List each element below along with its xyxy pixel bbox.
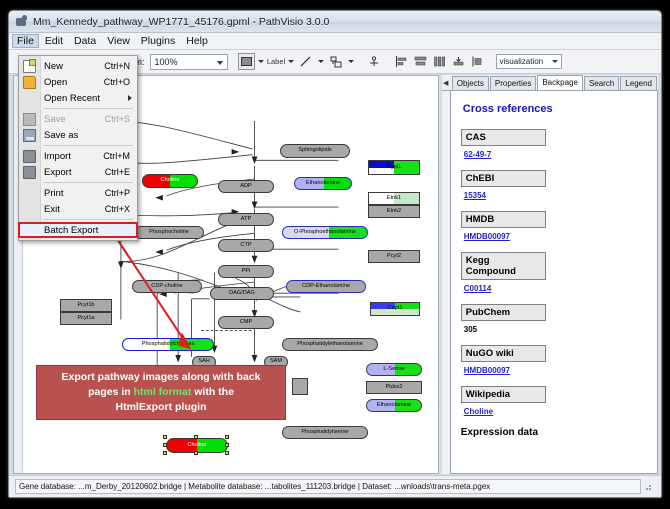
file-menu-separator-3 xyxy=(43,182,133,183)
stack-button[interactable] xyxy=(450,53,467,70)
node-label: CMP xyxy=(240,320,252,326)
annotation-line3: HtmlExport plugin xyxy=(116,401,207,413)
file-menu-import-label: Import xyxy=(44,151,71,162)
export-icon xyxy=(23,166,36,179)
node-label: L-Serine xyxy=(383,367,404,373)
wikipedia-link[interactable]: Choline xyxy=(464,407,493,416)
resize-handle-n[interactable] xyxy=(194,435,198,439)
cas-link[interactable]: 62-49-7 xyxy=(464,150,492,159)
backpage-value-chebi[interactable]: 15354 xyxy=(464,191,649,200)
menu-bar: File Edit Data View Plugins Help xyxy=(9,33,661,50)
node-etnk1[interactable]: Etnk1 xyxy=(368,192,420,205)
menu-edit[interactable]: Edit xyxy=(40,34,68,48)
align-center-icon xyxy=(414,56,427,67)
datanode-dropdown[interactable] xyxy=(257,53,266,70)
submenu-arrow-icon xyxy=(128,95,132,101)
shape-button[interactable] xyxy=(328,53,345,70)
kegg-link[interactable]: C00114 xyxy=(464,284,492,293)
align-left-icon xyxy=(395,56,408,67)
node-label: Phosphocholine xyxy=(149,230,189,236)
node-sgpl1[interactable]: Sgpl1 xyxy=(368,160,420,175)
node-cmp[interactable]: CMP xyxy=(218,316,274,329)
chevron-down-icon-2 xyxy=(552,60,558,63)
node-phosphatidylserine[interactable]: Phosphatidylserine xyxy=(282,426,368,439)
shape-icon xyxy=(330,56,342,68)
file-menu-export-label: Export xyxy=(44,167,71,178)
group-button[interactable] xyxy=(469,53,486,70)
node-pcyt1a[interactable]: Pcyt1a xyxy=(60,312,112,325)
open-folder-icon xyxy=(23,76,36,89)
hmdb-link[interactable]: HMDB00097 xyxy=(464,232,510,241)
menu-view[interactable]: View xyxy=(102,34,135,48)
visualization-value: visualization xyxy=(500,57,544,66)
node-label: Phosphatidylserine xyxy=(301,430,348,436)
file-menu-exit-label: Exit xyxy=(44,204,60,215)
anchor-icon xyxy=(368,56,380,68)
menu-help[interactable]: Help xyxy=(181,34,213,48)
resize-handle-nw[interactable] xyxy=(163,435,167,439)
file-menu-open-recent[interactable]: Open Recent xyxy=(19,90,137,106)
backpage-section-cas: CAS xyxy=(461,129,546,146)
file-menu-exit-shortcut: Ctrl+X xyxy=(105,204,130,214)
file-menu-separator-2 xyxy=(43,145,133,146)
file-menu-new-shortcut: Ctrl+N xyxy=(104,61,130,71)
node-phosphatidylethanolamine[interactable]: Phosphatidylethanolamine xyxy=(282,338,378,351)
tab-search[interactable]: Search xyxy=(584,76,619,90)
tab-legend[interactable]: Legend xyxy=(620,76,657,90)
selected-node-choline[interactable]: Choline xyxy=(166,438,228,453)
nugo-link[interactable]: HMDB00097 xyxy=(464,366,510,375)
label-dropdown[interactable] xyxy=(287,53,296,70)
node-label: Etnk2 xyxy=(387,209,401,215)
file-menu-save-as[interactable]: Save as xyxy=(19,127,137,143)
file-menu-batch-export-label: Batch Export xyxy=(44,225,98,236)
node-label: CTP xyxy=(240,243,251,249)
backpage-section-pubchem: PubChem xyxy=(461,304,546,321)
line-icon xyxy=(300,56,312,68)
group-icon xyxy=(471,56,484,67)
node-l-serine[interactable]: L-Serine xyxy=(366,363,422,376)
node-ethanolamine-bottom[interactable]: Ethanolamine xyxy=(366,399,422,412)
node-label: CDP-choline xyxy=(151,284,182,290)
annotation-callout: Export pathway images along with back pa… xyxy=(36,365,286,420)
node-pcyt1b[interactable]: Pcyt1b xyxy=(60,299,112,312)
node-group-handle[interactable] xyxy=(292,378,308,395)
window-title: Mm_Kennedy_pathway_WP1771_45176.gpml - P… xyxy=(33,16,329,28)
backpage-value-nugo[interactable]: HMDB00097 xyxy=(464,366,649,375)
backpage-heading: Cross references xyxy=(463,103,649,115)
node-label: ADP xyxy=(240,184,252,190)
save-as-icon xyxy=(23,129,36,142)
file-menu-new[interactable]: New Ctrl+N xyxy=(19,58,137,74)
menu-data[interactable]: Data xyxy=(69,34,101,48)
chevron-down-icon xyxy=(217,61,223,65)
node-label: CDP-Ethanolamine xyxy=(302,284,350,290)
anchor-button[interactable] xyxy=(366,53,383,70)
status-text: Gene database: ...m_Derby_20120602.bridg… xyxy=(15,479,641,494)
node-phosphatidylcholines[interactable]: Phosphatidylcholines xyxy=(122,338,214,351)
file-menu-print-label: Print xyxy=(44,188,64,199)
node-label: O-Phosphoethanolamine xyxy=(294,230,356,236)
node-label: Ptdss2 xyxy=(385,385,402,391)
node-etnk2[interactable]: Etnk2 xyxy=(368,205,420,218)
file-menu-separator-1 xyxy=(43,108,133,109)
file-menu-save-as-label: Save as xyxy=(44,130,78,141)
file-menu-open-recent-label: Open Recent xyxy=(44,93,100,104)
node-atp[interactable]: ATP xyxy=(218,213,274,226)
file-menu-dropdown[interactable]: New Ctrl+N Open Ctrl+O Open Recent Save … xyxy=(18,55,138,241)
tab-scroll-left-icon[interactable]: ◀ xyxy=(442,75,450,91)
tab-properties[interactable]: Properties xyxy=(490,76,536,90)
align-center-button[interactable] xyxy=(412,53,429,70)
node-o-phosphoethanolamine[interactable]: O-Phosphoethanolamine xyxy=(282,226,368,239)
node-label: SAM xyxy=(270,359,282,365)
backpage-section-kegg: Kegg Compound xyxy=(461,252,546,280)
file-menu-open[interactable]: Open Ctrl+O xyxy=(19,74,137,90)
title-bar: Mm_Kennedy_pathway_WP1771_45176.gpml - P… xyxy=(9,11,661,33)
status-bar: Gene database: ...m_Derby_20120602.bridg… xyxy=(9,475,661,497)
file-menu-save-label: Save xyxy=(44,114,66,125)
screenshot-root: Mm_Kennedy_pathway_WP1771_45176.gpml - P… xyxy=(0,0,670,509)
file-menu-import-shortcut: Ctrl+M xyxy=(103,151,130,161)
datanode-icon xyxy=(241,57,252,66)
resize-handle-ne[interactable] xyxy=(225,435,229,439)
node-label: Pcyt2 xyxy=(387,254,401,260)
sidebar-tabstrip: ◀ Objects Properties Backpage Search Leg… xyxy=(442,75,658,91)
file-menu-batch-export[interactable]: Batch Export xyxy=(19,222,137,238)
resize-grip-icon[interactable] xyxy=(641,479,655,494)
annotation-line2c: with the xyxy=(191,386,234,398)
backpage-value-hmdb[interactable]: HMDB00097 xyxy=(464,232,649,241)
node-ppi[interactable]: PPi xyxy=(218,265,274,278)
node-label: Sphingolipids xyxy=(298,148,331,154)
file-menu-open-label: Open xyxy=(44,77,67,88)
file-menu-separator-4 xyxy=(43,219,133,220)
file-menu-exit[interactable]: Exit Ctrl+X xyxy=(19,201,137,217)
file-menu-save-shortcut: Ctrl+S xyxy=(105,114,130,124)
file-menu-print[interactable]: Print Ctrl+P xyxy=(19,185,137,201)
resize-handle-sw[interactable] xyxy=(163,451,167,455)
node-adp[interactable]: ADP xyxy=(218,180,274,193)
file-menu-print-shortcut: Ctrl+P xyxy=(105,188,130,198)
backpage-value-pubchem: 305 xyxy=(464,325,649,334)
shape-dropdown[interactable] xyxy=(347,53,356,70)
node-label: Ethanolamine xyxy=(377,403,411,409)
file-menu-export[interactable]: Export Ctrl+E xyxy=(19,164,137,180)
node-label: Sgpl1 xyxy=(387,165,401,171)
resize-handle-s[interactable] xyxy=(194,451,198,455)
file-menu-save: Save Ctrl+S xyxy=(19,111,137,127)
node-cdp-ethanolamine[interactable]: CDP-Ethanolamine xyxy=(286,280,366,293)
annotation-highlight: html format xyxy=(134,386,192,398)
stack-icon xyxy=(452,56,465,67)
tab-objects[interactable]: Objects xyxy=(452,76,489,90)
backpage-value-kegg[interactable]: C00114 xyxy=(464,284,649,293)
file-menu-open-shortcut: Ctrl+O xyxy=(104,77,130,87)
node-label: Pcyt1b xyxy=(77,303,94,309)
sidebar: ◀ Objects Properties Backpage Search Leg… xyxy=(442,75,658,474)
new-document-icon xyxy=(23,60,36,73)
application-window: Mm_Kennedy_pathway_WP1771_45176.gpml - P… xyxy=(8,10,662,498)
zoom-value: 100% xyxy=(155,57,178,67)
node-ethanolamine-top[interactable]: Ethanolamine xyxy=(294,177,352,190)
backpage-panel: Cross references CAS 62-49-7 ChEBI 15354… xyxy=(450,91,658,474)
label-button[interactable]: Label xyxy=(268,53,285,70)
node-label: Etnk1 xyxy=(387,196,401,202)
file-menu-import[interactable]: Import Ctrl+M xyxy=(19,148,137,164)
node-ctp[interactable]: CTP xyxy=(218,239,274,252)
node-pcyt2[interactable]: Pcyt2 xyxy=(368,250,420,263)
pathvisio-icon xyxy=(15,15,28,28)
node-label: SAH xyxy=(198,359,210,365)
backpage-section-chebi: ChEBI xyxy=(461,170,546,187)
node-label: Choline xyxy=(188,443,207,449)
backpage-value-wikipedia[interactable]: Choline xyxy=(464,407,649,416)
node-label: Phosphatidylcholines xyxy=(142,342,195,348)
node-label: Pcyt1a xyxy=(77,316,94,322)
line-dropdown[interactable] xyxy=(317,53,326,70)
line-button[interactable] xyxy=(298,53,315,70)
save-disk-icon xyxy=(23,113,36,126)
zoom-combo[interactable]: 100% xyxy=(150,54,228,70)
resize-handle-se[interactable] xyxy=(225,451,229,455)
node-cept1[interactable]: Cept1 xyxy=(370,302,420,316)
node-sphingolipids[interactable]: Sphingolipids xyxy=(280,144,350,158)
node-label: Choline xyxy=(161,178,180,184)
node-ptdss2[interactable]: Ptdss2 xyxy=(366,381,422,394)
annotation-line2a: pages in xyxy=(88,386,134,398)
backpage-expression-data-heading: Expression data xyxy=(461,427,649,438)
backpage-section-nugo: NuGO wiki xyxy=(461,345,546,362)
file-menu-new-label: New xyxy=(44,61,63,72)
resize-handle-w[interactable] xyxy=(163,443,167,447)
backpage-value-cas[interactable]: 62-49-7 xyxy=(464,150,649,159)
node-label: PPi xyxy=(242,269,251,275)
node-label: ATP xyxy=(241,217,251,223)
node-choline-top[interactable]: Choline xyxy=(142,174,198,188)
tab-backpage[interactable]: Backpage xyxy=(537,75,583,90)
node-cdp-choline[interactable]: CDP-choline xyxy=(132,280,202,293)
visualization-combo[interactable]: visualization xyxy=(496,54,562,69)
chebi-link[interactable]: 15354 xyxy=(464,191,486,200)
node-label: DAG/DAG xyxy=(229,291,255,297)
resize-handle-e[interactable] xyxy=(225,443,229,447)
node-dag-dag[interactable]: DAG/DAG xyxy=(210,287,274,300)
node-label: Phosphatidylethanolamine xyxy=(297,342,363,348)
import-icon xyxy=(23,150,36,163)
node-phosphocholine[interactable]: Phosphocholine xyxy=(134,226,204,239)
align-left-button[interactable] xyxy=(393,53,410,70)
node-label: Cept1 xyxy=(388,306,403,312)
backpage-section-hmdb: HMDB xyxy=(461,211,546,228)
backpage-section-wikipedia: Wikipedia xyxy=(461,386,546,403)
align-columns-icon xyxy=(433,56,446,67)
file-menu-export-shortcut: Ctrl+E xyxy=(105,167,130,177)
annotation-line1: Export pathway images along with back xyxy=(62,371,261,383)
datanode-button[interactable] xyxy=(238,53,255,70)
menu-file[interactable]: File xyxy=(12,34,39,48)
node-label: Ethanolamine xyxy=(306,181,340,187)
align-columns-button[interactable] xyxy=(431,53,448,70)
label-button-text: Label xyxy=(267,57,285,66)
menu-plugins[interactable]: Plugins xyxy=(136,34,180,48)
